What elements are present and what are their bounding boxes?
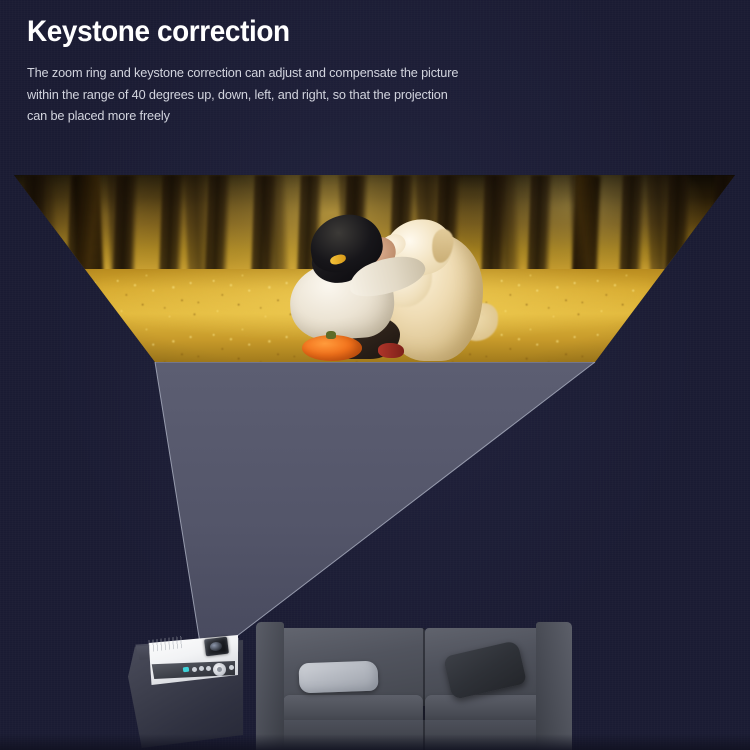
sofa-cushion-left — [283, 695, 423, 723]
projected-photo — [14, 175, 735, 362]
beam-cone — [155, 362, 595, 662]
beam-edge-right — [203, 362, 595, 662]
control-button-3[interactable] — [206, 666, 211, 671]
navigation-dpad-center[interactable] — [217, 667, 222, 672]
control-button-4[interactable] — [229, 665, 234, 670]
floor-shadow — [0, 734, 750, 750]
sofa-armrest-right — [536, 622, 572, 750]
control-button-1[interactable] — [192, 667, 197, 672]
projector-group[interactable] — [125, 624, 260, 750]
control-button-2[interactable] — [199, 666, 204, 671]
living-room-sofa — [253, 620, 597, 750]
sofa-seam — [423, 628, 425, 750]
light-pillow — [299, 661, 379, 694]
header: Keystone correction The zoom ring and ke… — [27, 14, 667, 127]
power-button[interactable] — [183, 667, 190, 673]
promo-scene: Keystone correction The zoom ring and ke… — [0, 0, 750, 750]
beam-edge-left — [155, 362, 203, 662]
sofa-armrest-left — [256, 622, 284, 750]
page-title: Keystone correction — [27, 14, 622, 49]
page-subtitle: The zoom ring and keystone correction ca… — [27, 62, 645, 126]
photo-vignette — [14, 175, 735, 362]
